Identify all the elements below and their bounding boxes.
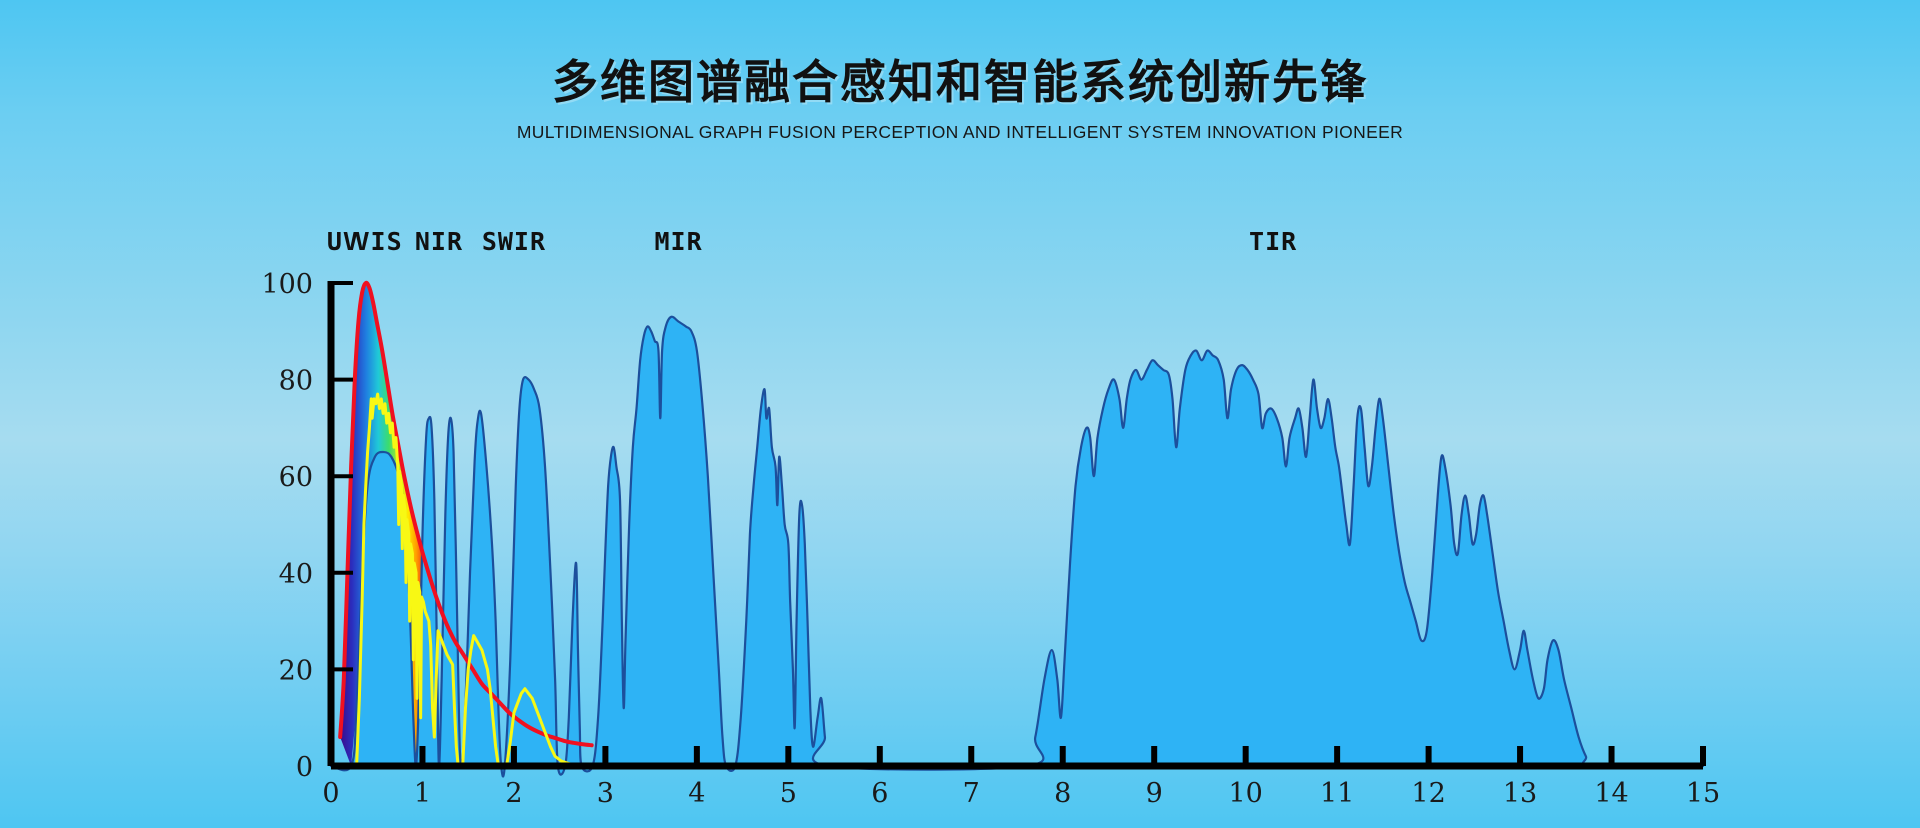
x-tick-label: 6 bbox=[871, 778, 888, 809]
x-tick-label: 2 bbox=[505, 778, 522, 809]
x-tick-label: 4 bbox=[688, 778, 705, 809]
x-tick-label: 14 bbox=[1594, 778, 1628, 809]
x-tick-label: 15 bbox=[1686, 778, 1720, 809]
band-label-nir: NIR bbox=[415, 227, 463, 256]
x-tick-label: 10 bbox=[1228, 778, 1262, 809]
y-tick-label: 60 bbox=[279, 462, 313, 493]
band-label-tir: TIR bbox=[1249, 227, 1297, 256]
x-tick-label: 5 bbox=[780, 778, 797, 809]
x-tick-label: 0 bbox=[322, 778, 339, 809]
x-tick-label: 8 bbox=[1054, 778, 1071, 809]
y-tick-label: 0 bbox=[296, 752, 313, 783]
x-tick-label: 1 bbox=[414, 778, 431, 809]
y-tick-label: 40 bbox=[279, 559, 313, 590]
y-tick-label: 100 bbox=[261, 269, 313, 300]
x-axis-tick-labels: 0123456789101112131415 bbox=[322, 778, 1720, 809]
x-tick-label: 12 bbox=[1411, 778, 1445, 809]
x-tick-label: 13 bbox=[1503, 778, 1537, 809]
band-label-mir: MIR bbox=[654, 227, 702, 256]
chart-canvas: 0123456789101112131415 020406080100 UVVI… bbox=[0, 0, 1920, 828]
y-tick-label: 80 bbox=[279, 366, 313, 397]
x-tick-label: 9 bbox=[1146, 778, 1163, 809]
x-tick-label: 7 bbox=[963, 778, 980, 809]
x-tick-label: 11 bbox=[1320, 778, 1354, 809]
y-axis-tick-labels: 020406080100 bbox=[261, 269, 313, 783]
band-label-vis: VIS bbox=[354, 227, 402, 256]
band-labels: UVVISNIRSWIRMIRTIR bbox=[327, 227, 1297, 256]
band-label-swir: SWIR bbox=[482, 227, 546, 256]
spectrum-chart: 0123456789101112131415 020406080100 UVVI… bbox=[0, 0, 1920, 828]
y-tick-label: 20 bbox=[279, 655, 313, 686]
x-tick-label: 3 bbox=[597, 778, 614, 809]
